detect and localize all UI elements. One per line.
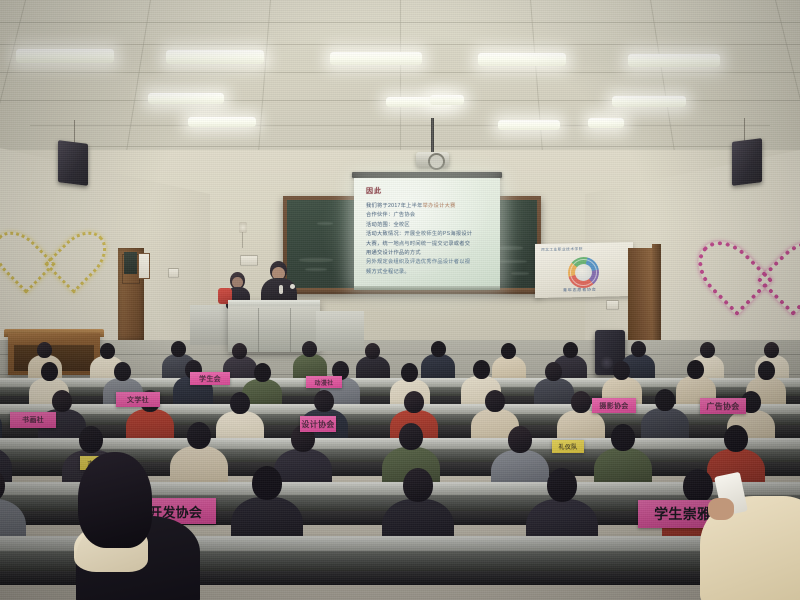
wall-outlet-3 [606,300,619,310]
heart-decoration-gold [14,204,86,270]
audience-head [571,391,591,413]
audience-head [700,342,715,358]
desk-sign: 文学社 [116,392,160,407]
audience-head [254,363,271,382]
desk-sign: 学生会 [190,372,230,385]
slide-line-6: 用通交设计作品的方式 [366,251,421,256]
slide-title: 因此 [366,186,382,196]
audience-head [758,361,775,380]
foreground-attendee-left [58,452,208,600]
slide-line-7: 另外规定会组织及评选优秀作品设计者以视 [366,260,470,265]
slide-line-4: 活动大致情况：开展全校师生的PS海报设计 [366,232,472,237]
audience-head [302,341,317,357]
audience-head [545,362,562,381]
audience-head [37,342,52,358]
audience-head [100,343,115,359]
audience-head [403,468,433,502]
audience-head [485,390,505,412]
audience-head [547,468,577,502]
desk-sign: 动漫社 [306,376,342,388]
projection-screen: 因此 我们将于2017年上半年举办设计大赛合作伙伴：广告协会活动范围：全校区活动… [354,178,500,288]
audience-head [79,426,103,453]
heart-decoration-pink [722,208,800,286]
slide-line-8: 频方式全程记录。 [366,270,410,275]
audience-head [724,425,748,452]
slide-line-3: 活动范围：全校区 [366,223,410,228]
audience-head [399,423,423,450]
ceiling-light-12 [588,118,624,128]
audience-head [187,422,211,449]
desk-sign: 设计协会 [300,416,336,432]
microphone-icon [279,285,283,294]
audience-head [473,360,490,379]
screen-weight-bar [354,286,500,290]
desk-sign: 广告协会 [700,398,746,414]
banner-bottom-text: 青年志愿者协会 [563,287,597,294]
desk-sign: 礼仪队 [552,440,584,453]
ceiling-light-5 [628,54,720,67]
audience-head [655,389,675,411]
wall-fixture-icon [239,222,247,233]
audience-head [764,342,779,358]
desk-sign: 摄影协会 [592,398,636,413]
ceiling-light-4 [478,53,566,66]
wall-notice-frame [138,253,150,279]
side-cabinet [190,305,232,345]
ceiling-light-7 [188,117,256,127]
audience-head [501,343,516,359]
wall-banner: 河北工业职业技术学院 青年志愿者协会 [535,242,633,298]
foreground-attendee-right [694,468,800,600]
ceiling-light-3 [330,52,422,65]
audience-head [508,426,532,453]
ceiling-light-6 [148,93,224,104]
door-jamb-right [652,244,661,344]
wall-outlet-2 [168,268,179,278]
projector-lens-icon [428,153,445,170]
door-right[interactable] [628,248,654,343]
door-window-left [124,252,137,274]
wall-outlet-1 [240,255,258,266]
audience-head [401,363,418,382]
audience-head [611,424,635,451]
audience-head [252,466,282,500]
ceiling-light-2 [166,50,264,64]
audience-head [232,343,247,359]
audience-head [365,343,380,359]
audience-head [230,392,250,414]
audience-head [314,390,334,412]
slide-line-2: 合作伙伴：广告协会 [366,213,415,218]
audience-head [52,390,72,412]
audience-head [114,362,131,381]
audience-head [171,341,186,357]
wall-speaker-left [58,140,88,186]
audience-head [631,341,646,357]
ceiling-light-9 [430,95,464,105]
lecture-hall-photo: 因此 我们将于2017年上半年举办设计大赛合作伙伴：广告协会活动范围：全校区活动… [0,0,800,600]
banner-top-text: 河北工业职业技术学院 [541,247,583,253]
front-counter [316,311,364,351]
wall-speaker-right [732,138,762,186]
audience-head [563,342,578,358]
club-logo-icon [568,257,599,289]
ceiling-light-1 [16,49,114,63]
audience-head [613,361,630,380]
ceiling-light-11 [612,96,686,107]
audience-head [41,362,58,381]
audience-head [404,391,424,413]
slide-line-1: 我们将于2017年上半年举办设计大赛 [366,204,456,209]
audience-head [431,341,446,357]
desk-sign: 书画社 [10,412,56,428]
ceiling-light-10 [498,120,560,130]
slide-line-5: 大赛，统一地点与时间统一提交记录或者交 [366,242,470,247]
